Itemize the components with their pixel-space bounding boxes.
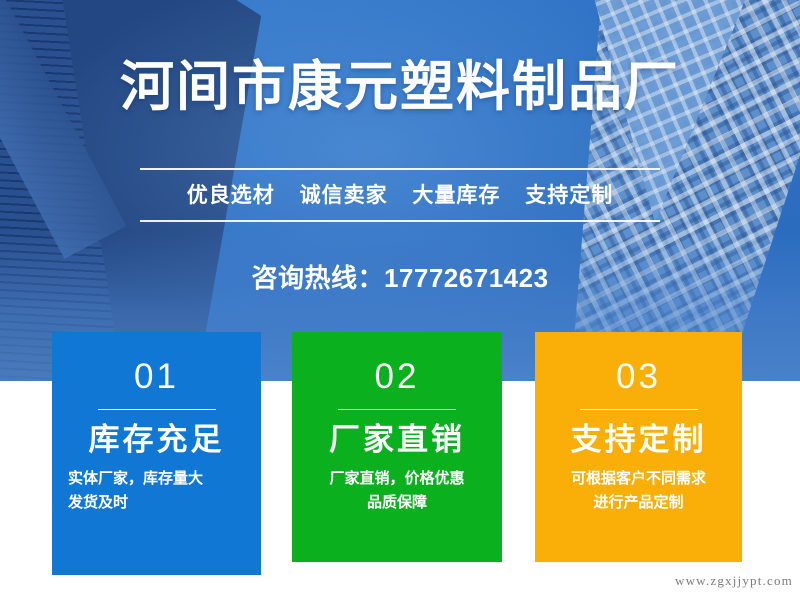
feature-card-3: 03 支持定制 可根据客户不同需求 进行产品定制 xyxy=(535,332,742,562)
card-3-divider xyxy=(580,409,698,410)
card-3-description: 可根据客户不同需求 进行产品定制 xyxy=(535,467,742,515)
card-1-heading: 库存充足 xyxy=(52,421,261,458)
card-2-divider xyxy=(338,409,456,410)
card-3-number: 03 xyxy=(535,359,742,394)
card-1-number: 01 xyxy=(52,359,261,394)
card-2-description-line-2: 品质保障 xyxy=(306,491,488,515)
card-3-description-line-1: 可根据客户不同需求 xyxy=(549,467,728,491)
card-2-description-line-1: 厂家直销，价格优惠 xyxy=(306,467,488,491)
feature-cards: 01 库存充足 实体厂家，库存量大 发货及时 02 厂家直销 厂家直销，价格优惠… xyxy=(0,0,800,597)
card-2-number: 02 xyxy=(292,359,502,394)
card-3-description-line-2: 进行产品定制 xyxy=(549,491,728,515)
card-1-description: 实体厂家，库存量大 发货及时 xyxy=(52,467,261,515)
card-2-description: 厂家直销，价格优惠 品质保障 xyxy=(292,467,502,515)
promo-banner: 河间市康元塑料制品厂 优良选材 诚信卖家 大量库存 支持定制 咨询热线：1777… xyxy=(0,0,800,597)
card-1-divider xyxy=(98,409,216,410)
site-watermark: www.zgxjjypt.com xyxy=(675,573,793,589)
card-2-heading: 厂家直销 xyxy=(292,421,502,458)
card-1-description-line-2: 发货及时 xyxy=(68,491,247,515)
feature-card-2: 02 厂家直销 厂家直销，价格优惠 品质保障 xyxy=(292,332,502,562)
card-1-description-line-1: 实体厂家，库存量大 xyxy=(68,467,247,491)
card-3-heading: 支持定制 xyxy=(535,421,742,458)
feature-card-1: 01 库存充足 实体厂家，库存量大 发货及时 xyxy=(52,332,261,575)
